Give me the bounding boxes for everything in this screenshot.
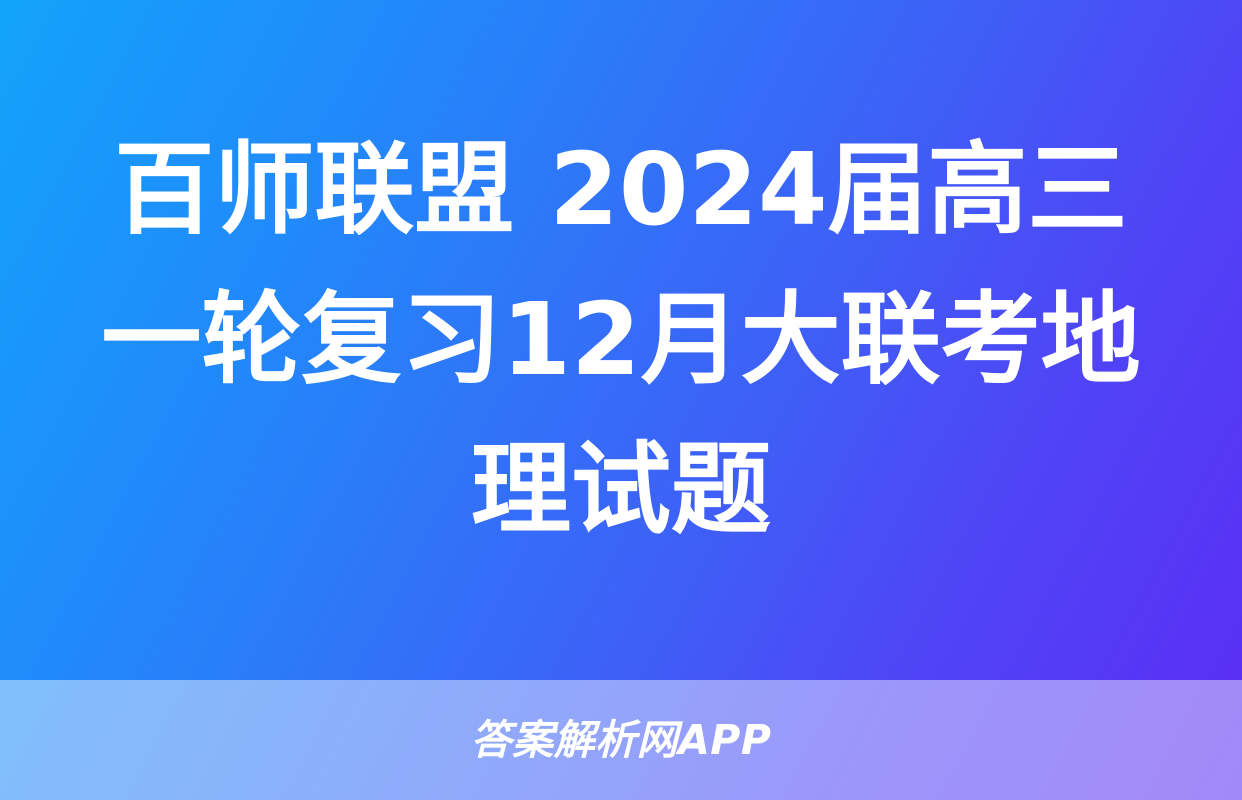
watermark-bar: 答案解析网APP: [0, 680, 1242, 800]
poster-canvas: 百师联盟 2024届高三一轮复习12月大联考地理试题 答案解析网APP: [0, 0, 1242, 800]
page-title: 百师联盟 2024届高三一轮复习12月大联考地理试题: [71, 115, 1171, 565]
watermark-label: 答案解析网APP: [471, 716, 772, 764]
title-area: 百师联盟 2024届高三一轮复习12月大联考地理试题: [0, 0, 1242, 680]
